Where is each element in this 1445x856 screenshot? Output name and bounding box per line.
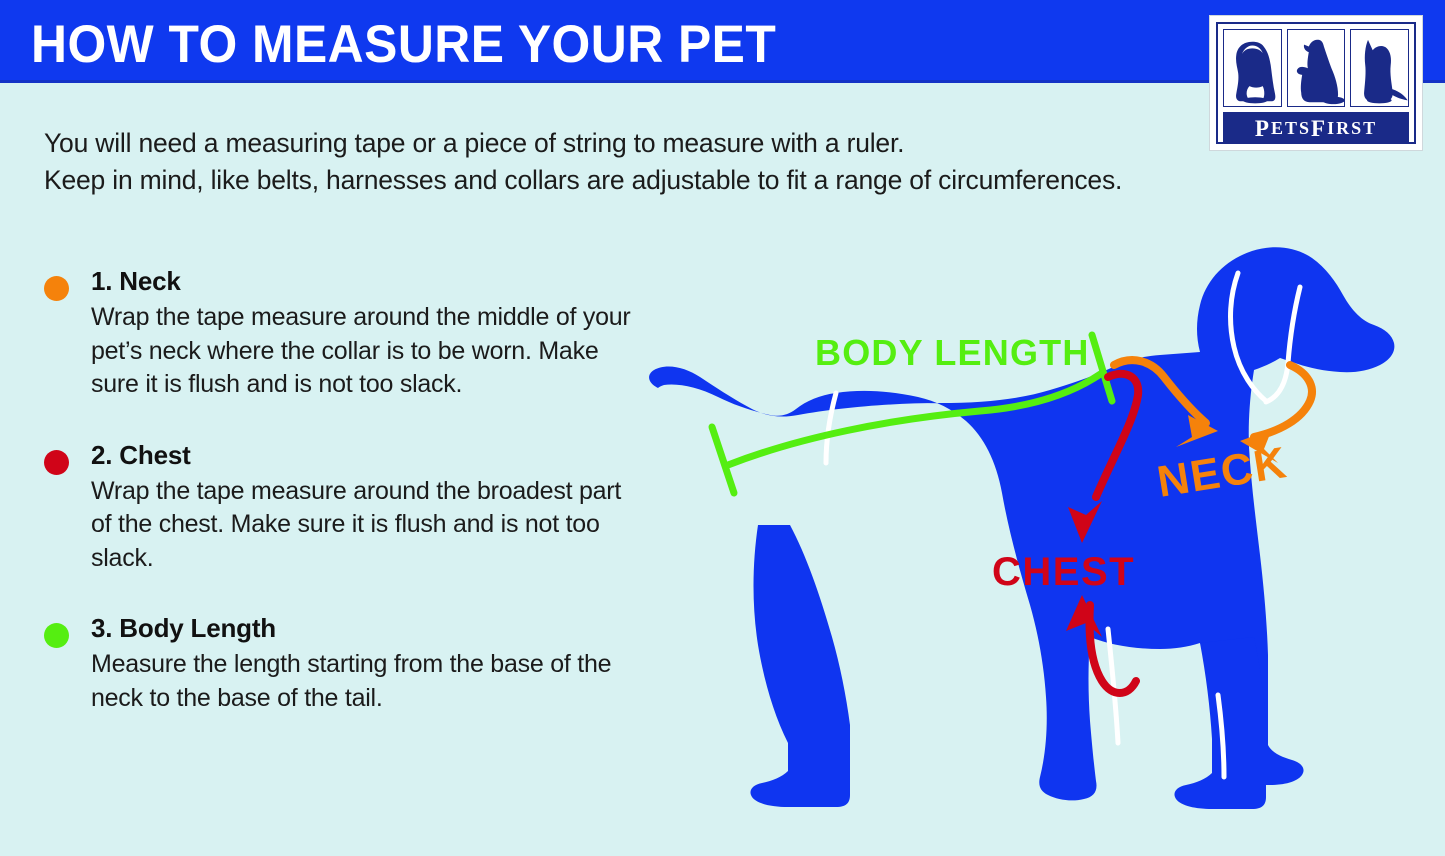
step-item-neck: 1. Neck Wrap the tape measure around the…: [44, 265, 644, 402]
step-bullet-body-length: [44, 623, 69, 648]
sitting-dog-icon: [1223, 29, 1282, 107]
step-title-neck: 1. Neck: [91, 265, 644, 298]
step-item-body-length: 3. Body Length Measure the length starti…: [44, 612, 644, 715]
measurement-steps-list: 1. Neck Wrap the tape measure around the…: [44, 265, 644, 752]
sitting-shepherd-icon: [1350, 29, 1409, 107]
dog-measurement-diagram: BODY LENGTH NECK CHEST: [640, 225, 1440, 850]
intro-line-1: You will need a measuring tape or a piec…: [44, 125, 1284, 162]
step-title-body-length: 3. Body Length: [91, 612, 644, 645]
step-item-chest: 2. Chest Wrap the tape measure around th…: [44, 439, 644, 576]
step-title-chest: 2. Chest: [91, 439, 644, 472]
logo-wordmark-f: F: [1311, 117, 1327, 140]
step-body-chest: Wrap the tape measure around the broades…: [91, 475, 644, 576]
begging-dog-icon: [1287, 29, 1346, 107]
page-title: HOW TO MEASURE YOUR PET: [31, 17, 776, 73]
body-length-label: BODY LENGTH: [815, 332, 1090, 373]
step-bullet-chest: [44, 450, 69, 475]
intro-text: You will need a measuring tape or a piec…: [44, 125, 1284, 199]
step-bullet-neck: [44, 276, 69, 301]
logo-wordmark-irst: IRST: [1327, 119, 1377, 137]
chest-label: CHEST: [992, 550, 1135, 594]
step-body-neck: Wrap the tape measure around the middle …: [91, 301, 644, 402]
infographic-page: HOW TO MEASURE YOUR PET: [0, 0, 1445, 856]
intro-line-2: Keep in mind, like belts, harnesses and …: [44, 162, 1284, 199]
logo-icon-row: [1223, 29, 1409, 107]
step-body-body-length: Measure the length starting from the bas…: [91, 648, 644, 715]
